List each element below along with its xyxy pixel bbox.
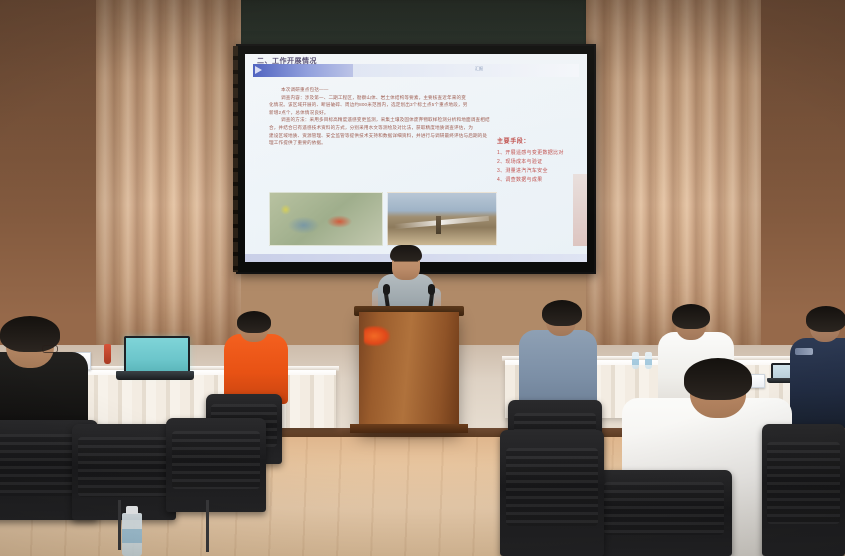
screen-frame-edge	[233, 46, 238, 272]
chair	[166, 418, 266, 512]
laptop-screen[interactable]	[124, 336, 190, 376]
slide-body-line: 调查的方法：采用多目标高精度遥感变更监测，采集土壤及固体废弃物取样检测分析和地面…	[269, 116, 469, 124]
slide-right-item: 2、现场成本与验证	[497, 158, 587, 167]
slide-body-text: 本次调研重点包括—— 调查内容：涉及第一、二期工程区，勘察山体、岩土体结构等要素…	[269, 86, 469, 147]
chair	[762, 424, 845, 556]
triangle-bullet-icon	[255, 66, 262, 74]
slide-headnote: 汇报	[475, 66, 483, 72]
conference-room-photo: 二、工作开展情况 汇报 本次调研重点包括—— 调查内容：涉及第一、二期工程区，勘…	[0, 0, 845, 556]
attendee-blue-shirt-hair	[542, 300, 582, 326]
slide-body-line: 建设区域地质、资源管理、安全监管等提供技术支持和数据详细资料，并进行与调研最终评…	[269, 132, 469, 140]
left-curtain	[96, 0, 241, 372]
slide-right-item: 1、开展遥感与变更数据比对	[497, 149, 587, 158]
left-side-wall	[0, 0, 100, 372]
slide-body-line: 理工作提供了重要的依据。	[269, 139, 469, 147]
attendee-white-shirt-hair	[672, 304, 710, 329]
slide-body-line: 调查内容：涉及第一、二期工程区，勘察山体、岩土体结构等要素，主要核查近年来的变	[269, 94, 469, 102]
attendee-white-polo-foreground-hair	[684, 358, 752, 400]
chair-leg	[206, 500, 209, 552]
slide-body-line: 合，并结合已有遥感技术资料的方式，分别采用水文等测绘及对比法，获取精度地质调查评…	[269, 124, 469, 132]
attendee-orange-jacket-hair	[237, 311, 271, 333]
slide-right-heading: 主要手段：	[497, 136, 587, 145]
glasses-icon	[42, 345, 58, 353]
microphone-left-head	[383, 284, 390, 295]
mountain-landscape-photo-image	[387, 192, 497, 246]
slide-body-line: 新增2点个，总体情况良好。	[269, 109, 469, 117]
slide-body-line: 本次调研重点包括——	[269, 86, 469, 94]
water-bottle-on-floor	[122, 513, 142, 556]
laptop-base[interactable]	[116, 371, 194, 380]
water-bottle	[645, 352, 652, 369]
chair	[596, 470, 732, 556]
attendee-uniform-hair	[806, 306, 845, 332]
slide-side-strip	[573, 174, 587, 246]
presenter-hair	[390, 245, 422, 261]
aerial-thermal-map-image	[269, 192, 383, 246]
presenter-glasses	[394, 261, 418, 266]
water-bottle	[632, 352, 639, 369]
projection-screen: 二、工作开展情况 汇报 本次调研重点包括—— 调查内容：涉及第一、二期工程区，勘…	[236, 44, 596, 274]
chair	[500, 430, 604, 556]
lectern-shadow	[340, 428, 480, 440]
chair	[72, 424, 176, 520]
chair-leg	[118, 500, 121, 550]
lectern-emblem	[364, 326, 390, 346]
slide-title: 二、工作开展情况	[257, 56, 317, 66]
presentation-slide: 二、工作开展情况 汇报 本次调研重点包括—— 调查内容：涉及第一、二期工程区，勘…	[245, 54, 587, 262]
slide-title-bar-extension	[353, 64, 579, 77]
slide-body-line: 化情况。该区域开展的、断层破碎、周边约800米范围内，选定划出3个标土点5个重点…	[269, 101, 469, 109]
red-thermos	[104, 344, 111, 364]
uniform-shoulder-patch	[795, 348, 813, 355]
microphone-right-head	[428, 284, 435, 295]
